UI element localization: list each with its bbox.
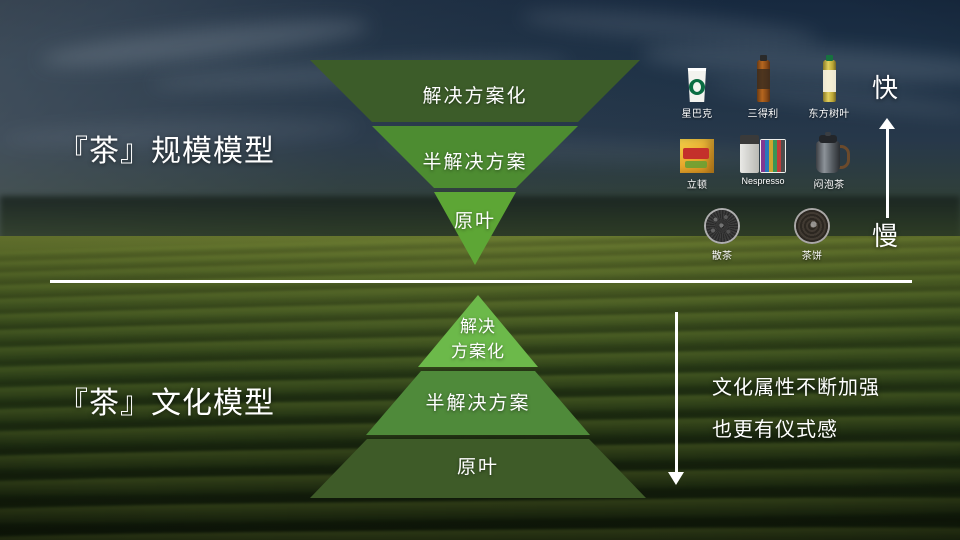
product-item-steeped-tea[interactable]: 闷泡茶 xyxy=(800,127,858,191)
lipton-box-icon xyxy=(680,127,714,173)
section-divider xyxy=(50,280,912,283)
product-label: 三得利 xyxy=(748,105,779,120)
speed-axis-top-label: 快 xyxy=(872,68,899,105)
starbucks-cup-icon xyxy=(685,56,709,102)
inverted-pyramid-band-2[interactable] xyxy=(310,126,640,188)
product-item-suntory[interactable]: 三得利 xyxy=(734,56,792,120)
culture-callout-line2: 也更有仪式感 xyxy=(712,413,838,442)
culture-model-title: 『茶』文化模型 xyxy=(58,378,275,422)
loose-tea-disc-icon xyxy=(704,198,740,244)
oriental-leaf-bottle-icon xyxy=(823,56,836,102)
suntory-bottle-icon xyxy=(757,56,770,102)
product-label: 立顿 xyxy=(687,176,708,191)
product-label: 茶饼 xyxy=(802,247,823,262)
scale-model-title: 『茶』规模模型 xyxy=(58,126,275,170)
culture-model-pyramid: 解决 方案化 半解决方案 原叶 xyxy=(310,295,646,498)
product-row-3: 散茶 茶饼 xyxy=(668,198,866,262)
product-item-tea-cake[interactable]: 茶饼 xyxy=(783,198,841,262)
thermal-pot-icon xyxy=(814,127,844,173)
product-label: Nespresso xyxy=(741,176,784,186)
product-item-nespresso[interactable]: Nespresso xyxy=(734,127,792,191)
speed-axis-bottom-label: 慢 xyxy=(872,216,899,253)
product-item-lipton[interactable]: 立顿 xyxy=(668,127,726,191)
inverted-pyramid-band-1[interactable] xyxy=(310,60,640,122)
product-row-1: 星巴克 三得利 东方树叶 xyxy=(668,56,866,120)
product-item-loose-tea[interactable]: 散茶 xyxy=(693,198,751,262)
product-item-starbucks[interactable]: 星巴克 xyxy=(668,56,726,120)
culture-callout-line1: 文化属性不断加强 xyxy=(712,371,880,400)
product-label: 星巴克 xyxy=(682,105,713,120)
scale-model-inverted-pyramid: 解决方案化 半解决方案 原叶 xyxy=(310,60,640,265)
product-label: 散茶 xyxy=(712,247,733,262)
product-grid: 星巴克 三得利 东方树叶 立顿 xyxy=(668,56,866,269)
product-item-oriental-leaf[interactable]: 东方树叶 xyxy=(800,56,858,120)
pyramid-band-1[interactable] xyxy=(310,295,646,367)
product-label: 东方树叶 xyxy=(808,105,849,120)
product-label: 闷泡茶 xyxy=(814,176,845,191)
inverted-pyramid-band-3[interactable] xyxy=(310,192,640,265)
nespresso-machine-icon xyxy=(740,127,786,173)
product-row-2: 立顿 Nespresso 闷泡茶 xyxy=(668,127,866,191)
pyramid-band-2[interactable] xyxy=(310,371,646,435)
tea-cake-disc-icon xyxy=(794,198,830,244)
pyramid-band-3[interactable] xyxy=(310,439,646,498)
slide-canvas: 『茶』规模模型 『茶』文化模型 解决方案化 半解决方案 原叶 星巴克 xyxy=(0,0,960,540)
